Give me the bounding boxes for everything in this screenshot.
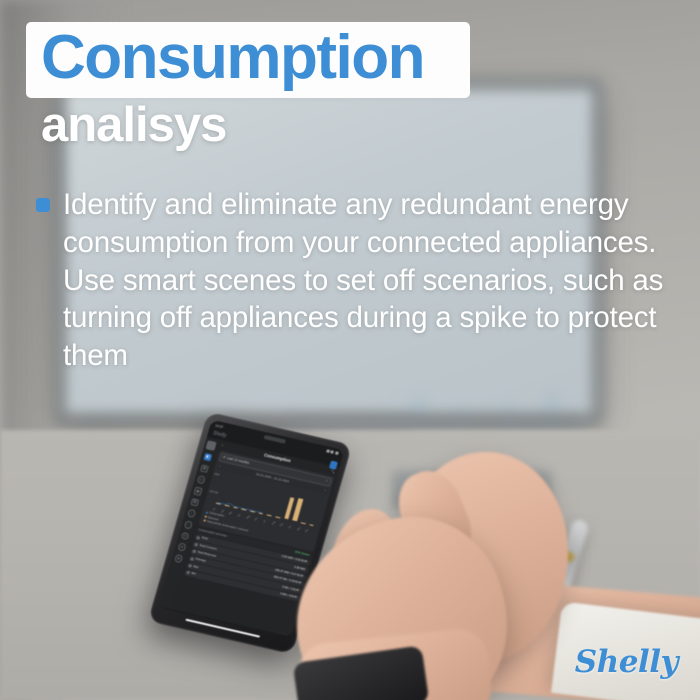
expand-icon[interactable]: ⤡ bbox=[331, 468, 336, 474]
settings-gear-icon[interactable]: ◎ bbox=[180, 532, 189, 541]
x-axis-tick: Dec bbox=[306, 529, 311, 534]
summary-row-key: Min bbox=[186, 571, 196, 577]
x-axis-tick: Aug bbox=[272, 521, 277, 526]
shield-icon[interactable]: ♡ bbox=[184, 520, 193, 529]
min-icon bbox=[186, 571, 190, 575]
summary-row-label: Max bbox=[193, 565, 199, 570]
x-axis-tick: May bbox=[246, 515, 251, 520]
back-icon[interactable]: ‹ bbox=[221, 443, 224, 449]
summary-row-value: 3.38 MW bbox=[294, 566, 306, 572]
summary-row-value: 0 Wh / 0 EUR bbox=[280, 592, 298, 599]
x-axis-tick: Sep bbox=[280, 523, 285, 528]
bullet-text: Identify and eliminate any redundant ene… bbox=[63, 186, 682, 375]
x-axis-tick: Jul bbox=[263, 520, 267, 524]
signal-icon bbox=[326, 449, 330, 453]
x-axis-tick: Nov bbox=[297, 527, 302, 532]
return-icon bbox=[192, 550, 196, 554]
preferences-icon[interactable]: ⚙ bbox=[174, 554, 183, 563]
chart-icon[interactable]: ◧ bbox=[203, 453, 212, 462]
next-period-icon[interactable]: › bbox=[324, 489, 326, 493]
info-icon[interactable]: i bbox=[187, 509, 196, 518]
max-icon bbox=[188, 564, 192, 568]
x-axis-tick: Apr bbox=[238, 513, 242, 517]
calendar-icon bbox=[196, 536, 200, 540]
wifi-icon bbox=[331, 450, 335, 454]
average-icon bbox=[190, 557, 194, 561]
legend-swatch bbox=[205, 511, 208, 514]
y-axis-top-label: kWh bbox=[214, 473, 220, 477]
x-axis-tick: Jan bbox=[213, 507, 217, 511]
share-icon[interactable]: ⋔ bbox=[177, 543, 186, 552]
bolt-icon bbox=[194, 543, 198, 547]
history-icon: ↺ bbox=[222, 455, 226, 460]
summary-row-label: Min bbox=[191, 572, 197, 577]
status-time: 14:37 bbox=[215, 423, 224, 429]
bullet-item: Identify and eliminate any redundant ene… bbox=[36, 186, 682, 375]
bullet-square-icon bbox=[36, 198, 50, 212]
filter-button[interactable] bbox=[329, 460, 338, 469]
status-icons bbox=[326, 449, 339, 455]
x-axis-tick: Jun bbox=[255, 517, 259, 521]
page-title: Consumption bbox=[41, 27, 471, 89]
battery-icon bbox=[335, 451, 339, 455]
summary-row-key: Total bbox=[196, 536, 207, 542]
page-subtitle: analisys bbox=[41, 101, 226, 150]
summary-row-key: Max bbox=[188, 564, 199, 570]
avatar-icon[interactable] bbox=[206, 441, 217, 451]
summary-row-label: Average bbox=[195, 558, 206, 564]
x-axis-tick: Feb bbox=[221, 509, 226, 514]
summary-row-label: Total bbox=[201, 537, 208, 542]
link-icon[interactable]: ⛓ bbox=[190, 498, 199, 507]
camera-icon[interactable]: ▣ bbox=[193, 487, 202, 496]
chevron-down-icon[interactable]: › bbox=[326, 479, 328, 483]
device-icon[interactable]: ▤ bbox=[200, 464, 209, 473]
period-label: Last 12 months bbox=[226, 456, 249, 465]
x-axis-tick: Mar bbox=[229, 511, 234, 516]
prev-period-icon[interactable]: ‹ bbox=[219, 465, 221, 469]
legend-swatch bbox=[203, 519, 206, 522]
chart-bar bbox=[292, 498, 303, 522]
x-axis-tick: Oct bbox=[289, 525, 293, 529]
legend-swatch bbox=[204, 515, 207, 518]
shelly-logo: Shelly bbox=[575, 644, 678, 680]
schedule-icon[interactable]: ◷ bbox=[197, 475, 206, 484]
